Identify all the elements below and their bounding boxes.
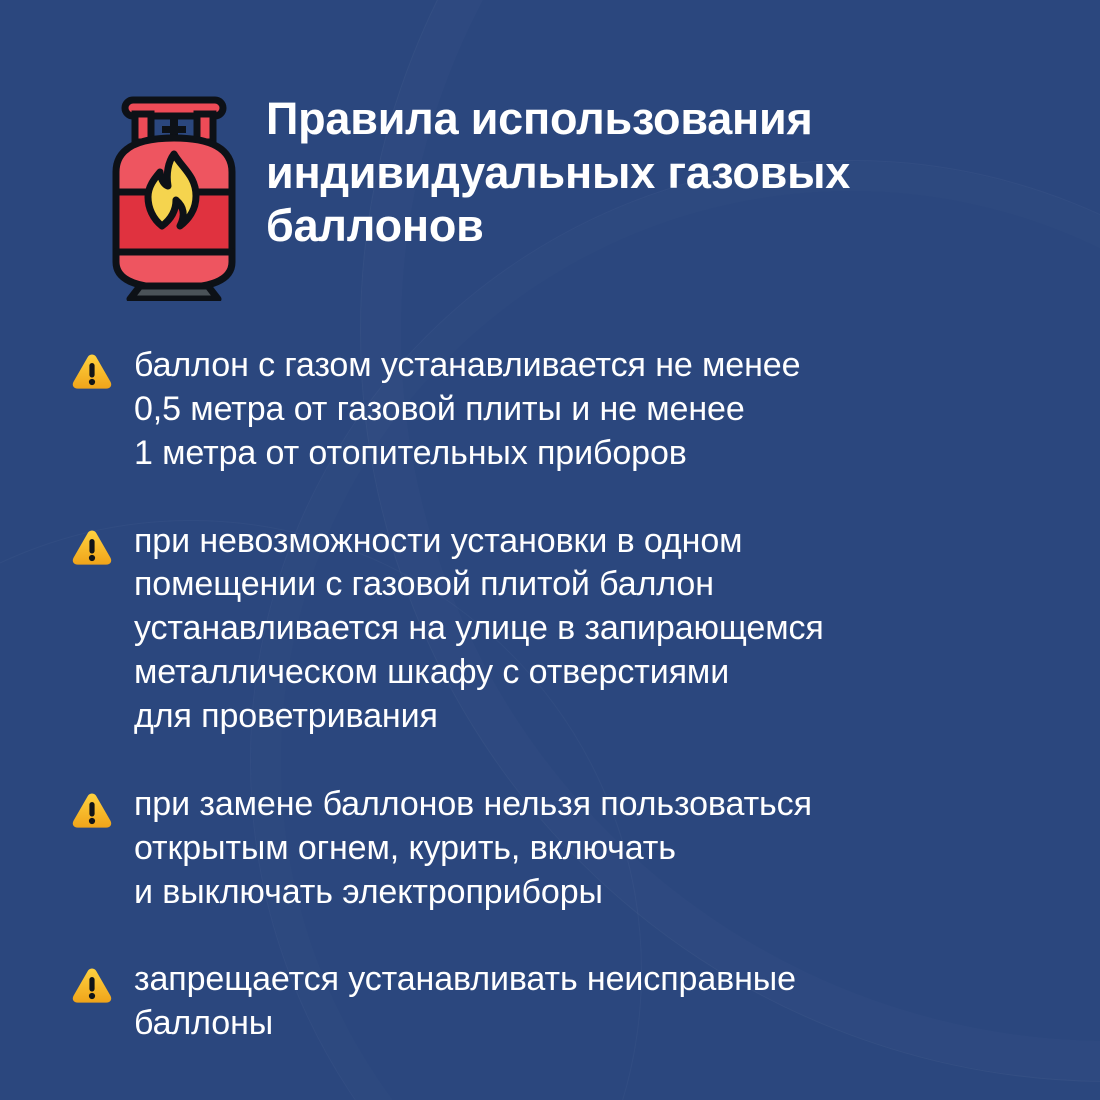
list-item-text: при невозможности установки в одном поме… xyxy=(134,520,1030,739)
list-item: баллон с газом устанавливается не менее … xyxy=(70,344,1030,476)
list-item: запрещается устанавливать неисправные ба… xyxy=(70,958,1030,1046)
warning-triangle-icon xyxy=(70,789,114,833)
poster-header: Правила использования индивидуальных газ… xyxy=(104,88,1024,301)
page-title: Правила использования индивидуальных газ… xyxy=(266,88,1024,253)
warning-triangle-icon xyxy=(70,526,114,570)
list-item-text: при замене баллонов нельзя пользоваться … xyxy=(134,783,1030,915)
rules-list: баллон с газом устанавливается не менее … xyxy=(70,344,1030,1046)
list-item: при замене баллонов нельзя пользоваться … xyxy=(70,783,1030,915)
list-item-text: запрещается устанавливать неисправные ба… xyxy=(134,958,1030,1046)
warning-triangle-icon xyxy=(70,350,114,394)
warning-triangle-icon xyxy=(70,964,114,1008)
gas-cylinder-icon xyxy=(104,96,244,301)
list-item-text: баллон с газом устанавливается не менее … xyxy=(134,344,1030,476)
poster-canvas: Правила использования индивидуальных газ… xyxy=(0,0,1100,1100)
list-item: при невозможности установки в одном поме… xyxy=(70,520,1030,739)
